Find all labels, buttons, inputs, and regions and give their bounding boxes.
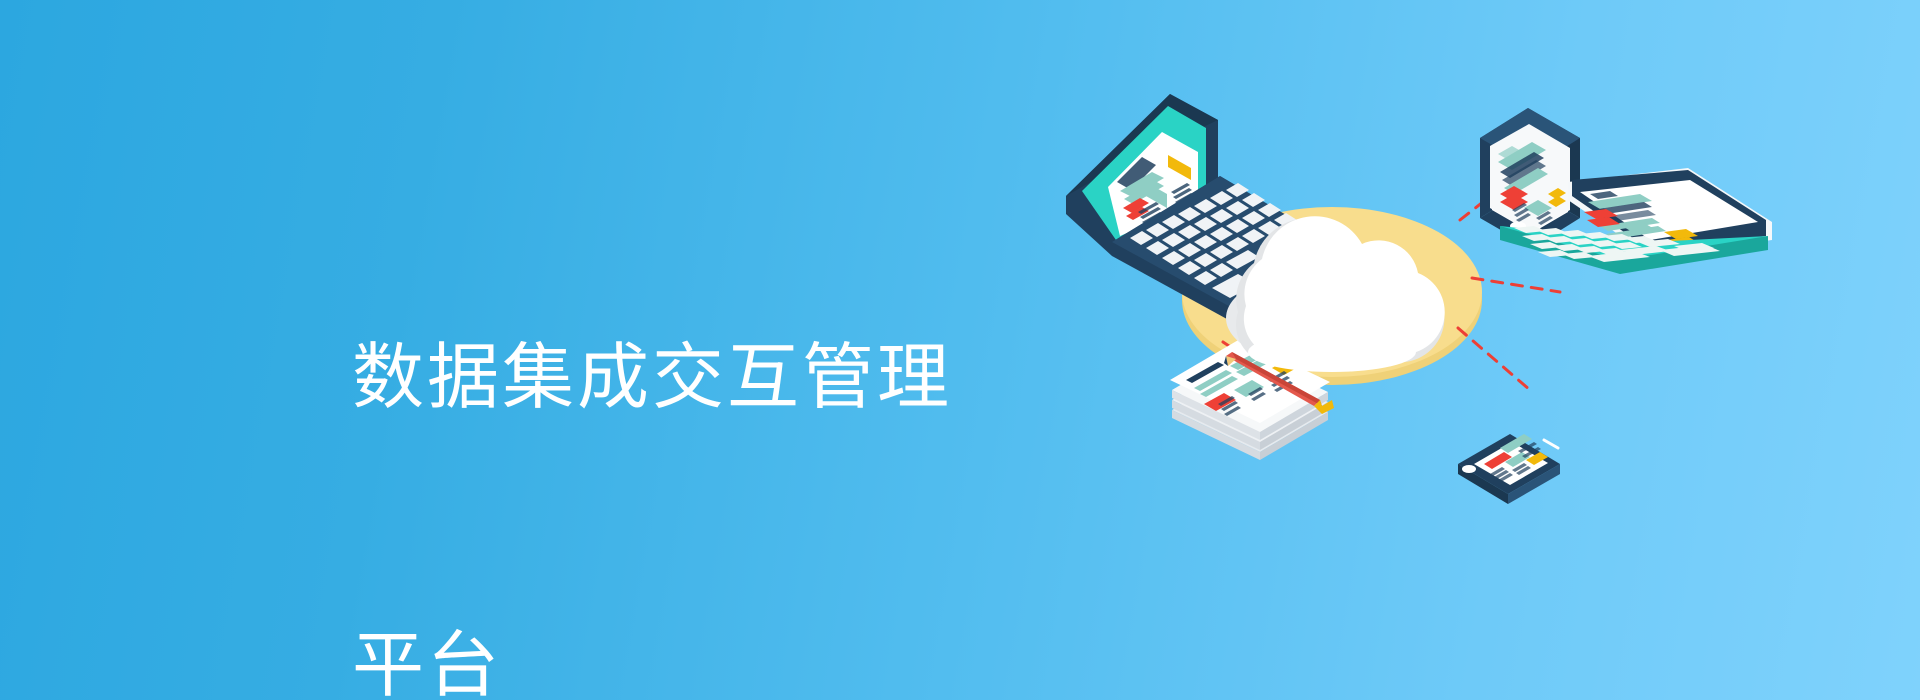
hero-illustration: 数据集成交互 管理平台 (1060, 60, 1860, 580)
page-title-line-2: 平台 (352, 618, 1012, 700)
smartphone-shape (1458, 434, 1560, 504)
hero-text-block: 数据集成交互管理 平台 集业务聚合、安全监管、行业标准为一体的专业医疗机构外联服… (352, 138, 1012, 700)
page-title-line-1: 数据集成交互管理 (352, 330, 1012, 426)
hero-banner: 数据集成交互管理 平台 集业务聚合、安全监管、行业标准为一体的专业医疗机构外联服… (0, 0, 1920, 700)
page-title: 数据集成交互管理 平台 (352, 138, 1012, 700)
